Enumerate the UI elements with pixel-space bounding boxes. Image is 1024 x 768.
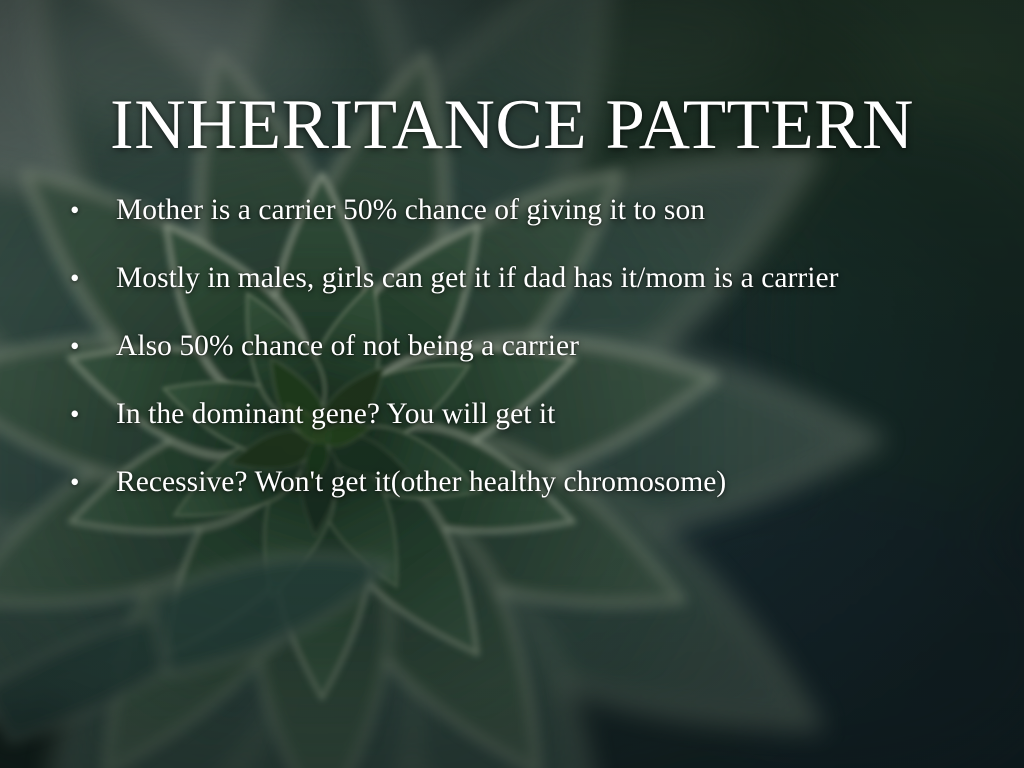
bullet-text-3: Also 50% chance of not being a carrier [116, 332, 579, 362]
bullet-item-4: • In the dominant gene? You will get it [62, 400, 1012, 468]
bullet-list: • Mother is a carrier 50% chance of givi… [62, 196, 1012, 536]
bullet-text-4: In the dominant gene? You will get it [116, 400, 555, 430]
slide-content: INHERITANCE PATTERN • Mother is a carrie… [0, 0, 1024, 768]
slide: INHERITANCE PATTERN • Mother is a carrie… [0, 0, 1024, 768]
bullet-item-3: • Also 50% chance of not being a carrier [62, 332, 1012, 400]
bullet-marker-icon: • [62, 265, 116, 292]
bullet-marker-icon: • [62, 401, 116, 428]
slide-title: INHERITANCE PATTERN [0, 90, 1024, 161]
bullet-text-5: Recessive? Won't get it(other healthy ch… [116, 468, 726, 498]
bullet-item-1: • Mother is a carrier 50% chance of givi… [62, 196, 1012, 264]
bullet-item-2: • Mostly in males, girls can get it if d… [62, 264, 1012, 332]
bullet-marker-icon: • [62, 197, 116, 224]
bullet-item-5: • Recessive? Won't get it(other healthy … [62, 468, 1012, 536]
bullet-marker-icon: • [62, 469, 116, 496]
bullet-marker-icon: • [62, 333, 116, 360]
bullet-text-2: Mostly in males, girls can get it if dad… [116, 264, 839, 294]
bullet-text-1: Mother is a carrier 50% chance of giving… [116, 196, 705, 226]
